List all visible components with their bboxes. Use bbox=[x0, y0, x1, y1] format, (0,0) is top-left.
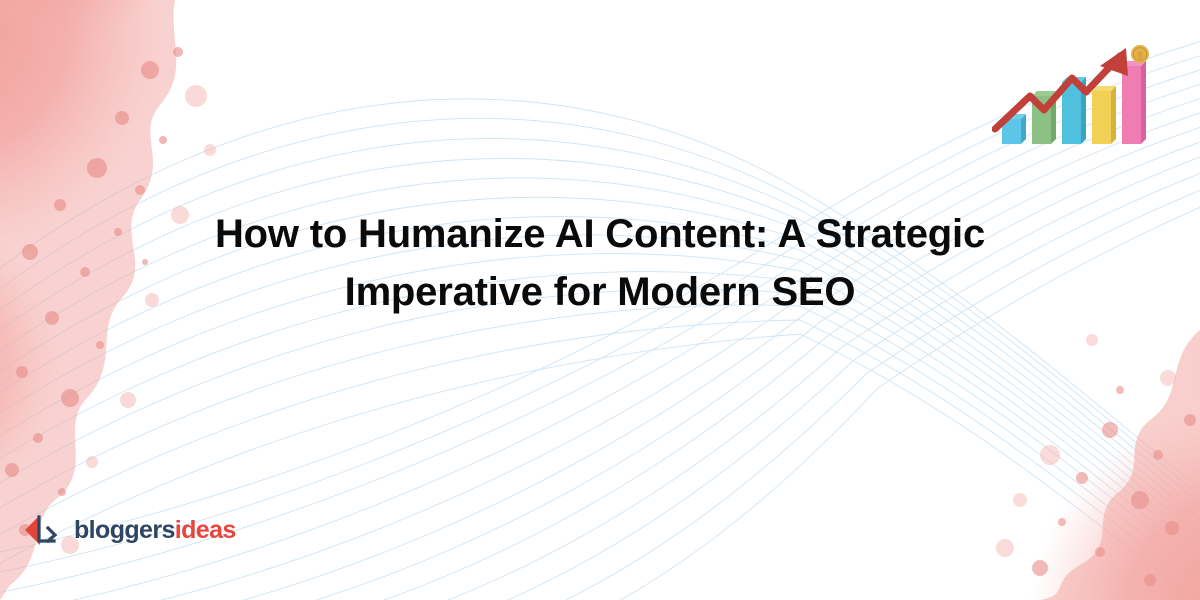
svg-text:$: $ bbox=[1137, 51, 1142, 61]
bloggersideas-logo[interactable]: bloggersideas bbox=[24, 513, 236, 547]
page-title-line-1: How to Humanize AI Content: A Strategic bbox=[150, 205, 1050, 263]
coin-icon: $ bbox=[1131, 45, 1149, 63]
chart-bar-4 bbox=[1092, 86, 1116, 144]
featured-image-canvas: $ How to Humanize AI Content: A Strategi… bbox=[0, 0, 1200, 600]
page-title-line-2: Imperative for Modern SEO bbox=[150, 263, 1050, 321]
logo-text-primary: bloggers bbox=[74, 516, 175, 544]
growth-chart-graphic: $ bbox=[992, 34, 1157, 144]
logo-text-accent: ideas bbox=[175, 516, 236, 544]
logo-wordmark: bloggersideas bbox=[74, 518, 236, 543]
page-title: How to Humanize AI Content: A Strategic … bbox=[150, 205, 1050, 321]
bloggersideas-logo-mark-icon bbox=[24, 513, 64, 547]
